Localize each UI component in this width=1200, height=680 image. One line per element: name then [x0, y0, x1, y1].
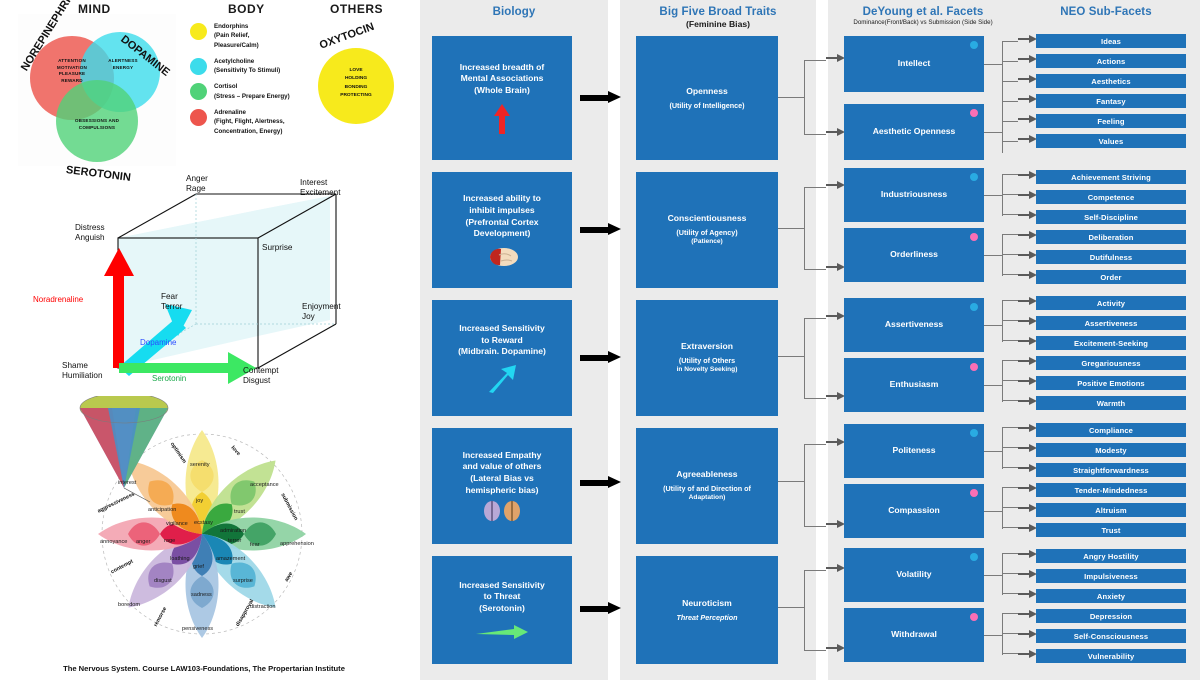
connector-line — [778, 607, 804, 608]
cube-label-contempt-disgust: ContemptDisgust — [243, 366, 279, 387]
connector-line — [1002, 633, 1018, 634]
neo-box-achievement-striving[interactable]: Achievement Striving — [1036, 170, 1186, 184]
connector-line — [804, 60, 826, 61]
venn-column-title-body: BODY — [228, 2, 265, 16]
connector-line — [1002, 527, 1018, 528]
column-title-biology: Biology — [420, 6, 608, 18]
neo-box-angry-hostility[interactable]: Angry Hostility — [1036, 549, 1186, 563]
facet-box-orderliness[interactable]: Orderliness — [844, 228, 984, 282]
connector-line — [984, 255, 1002, 256]
infographic-page: MIND BODY OTHERS ATTENTIONMOTIVATIONPLEA… — [0, 0, 1200, 680]
connector-line — [984, 635, 1002, 636]
connector-line — [804, 318, 826, 319]
wheel-word-joy: joy — [196, 498, 203, 504]
neo-box-tender-mindedness[interactable]: Tender-Mindedness — [1036, 483, 1186, 497]
facet-name: Intellect — [898, 58, 930, 70]
connector-line — [1002, 400, 1018, 401]
trait-sub2: (Patience) — [691, 238, 723, 247]
facet-name: Industriousness — [881, 189, 947, 201]
facet-box-withdrawal[interactable]: Withdrawal — [844, 608, 984, 662]
biology-box-text: Increased Empathyand value of others(Lat… — [463, 450, 542, 496]
neo-box-aesthetics[interactable]: Aesthetics — [1036, 74, 1186, 88]
connector-line — [804, 444, 826, 445]
connector-line — [1002, 254, 1018, 255]
connector-line — [1002, 613, 1018, 614]
neo-box-values[interactable]: Values — [1036, 134, 1186, 148]
column-title-deyoung: DeYoung et al. Facets — [828, 6, 1018, 18]
connector-line — [1002, 41, 1003, 85]
neo-box-compliance[interactable]: Compliance — [1036, 423, 1186, 437]
wheel-word-pensiveness: pensiveness — [182, 626, 213, 632]
connector-line — [984, 325, 1002, 326]
wheel-word-annoyance: annoyance — [100, 539, 127, 545]
facet-box-volatility[interactable]: Volatility — [844, 548, 984, 602]
trait-name: Conscientiousness — [668, 213, 747, 225]
legend-item: Acetylcholine(Sensitivity To Stimuli) — [190, 57, 318, 76]
connector-line — [804, 650, 826, 651]
wheel-word-trust: trust — [234, 509, 245, 515]
wheel-word-ecstasy: ecstasy — [194, 520, 213, 526]
neo-box-dutifulness[interactable]: Dutifulness — [1036, 250, 1186, 264]
cube-label-anger-rage: AngerRage — [186, 174, 208, 195]
oxytocin-circle: LOVEHOLDINGBONDINGPROTECTING — [318, 48, 394, 124]
connector-line — [778, 356, 804, 357]
facet-name: Compassion — [888, 505, 940, 517]
connector-line — [1002, 41, 1018, 42]
connector-line — [984, 451, 1002, 452]
cube-axis-label-dopamine: Dopamine — [140, 338, 176, 348]
connector-line — [804, 187, 826, 188]
dot-pink-icon — [970, 613, 978, 621]
legend-item: Adrenaline(Fight, Flight, Alertness,Conc… — [190, 108, 318, 136]
connector-line — [804, 60, 805, 134]
dot-pink-icon — [970, 109, 978, 117]
column-subtitle-big-five: (Feminine Bias) — [620, 19, 816, 29]
two-brains-icon — [482, 500, 522, 522]
dot-pink-icon — [970, 363, 978, 371]
connector-line — [1002, 340, 1018, 341]
connector-line — [804, 570, 805, 650]
connector-line — [1002, 121, 1018, 122]
connector-line — [804, 134, 826, 135]
connector-line — [1002, 553, 1018, 554]
neo-box-self-consciousness[interactable]: Self-Consciousness — [1036, 629, 1186, 643]
oxytocin-label: OXYTOCIN — [318, 21, 376, 52]
legend-swatch-cortisol — [190, 83, 207, 100]
connector-line — [804, 187, 805, 269]
plutchik-emotion-wheel-figure: ecstasy admiration terror amazement grie… — [78, 396, 318, 648]
facet-name: Politeness — [893, 445, 936, 457]
neurotransmitter-venn-figure: MIND BODY OTHERS ATTENTIONMOTIVATIONPLEA… — [0, 0, 408, 168]
neurotransmitter-legend: Endorphins(Pain Relief,Pleasure/Calm) Ac… — [190, 22, 318, 143]
wheel-word-apprehension: apprehension — [280, 541, 314, 547]
trait-name: Openness — [686, 86, 728, 98]
connector-line — [984, 385, 1002, 386]
wheel-word-acceptance: acceptance — [250, 482, 279, 488]
neo-box-trust[interactable]: Trust — [1036, 523, 1186, 537]
column-header-big-five: Big Five Broad Traits (Feminine Bias) — [620, 6, 816, 29]
trait-sub: (Utility of Intelligence) — [669, 101, 744, 110]
column-header-neo: NEO Sub-Facets — [1012, 6, 1200, 18]
venn-text-serotonin: OBSESSIONS ANDCOMPULSIONS — [58, 118, 136, 131]
dot-blue-icon — [970, 429, 978, 437]
connector-line — [1002, 487, 1018, 488]
red-up-arrow-icon — [493, 104, 511, 134]
legend-swatch-endorphins — [190, 23, 207, 40]
connector-line — [984, 64, 1002, 65]
column-title-neo: NEO Sub-Facets — [1012, 6, 1200, 18]
connector-line — [984, 575, 1002, 576]
cube-label-shame-humiliation: ShameHumiliation — [62, 361, 103, 382]
column-title-big-five: Big Five Broad Traits — [620, 6, 816, 18]
facet-name: Orderliness — [890, 249, 938, 261]
cube-label-distress-anguish: DistressAnguish — [75, 223, 105, 244]
connector-line — [804, 526, 826, 527]
facet-box-aesthetic-openness[interactable]: Aesthetic Openness — [844, 104, 984, 160]
dot-pink-icon — [970, 489, 978, 497]
dot-pink-icon — [970, 233, 978, 241]
trait-name: Neuroticism — [682, 598, 732, 610]
venn-text-dopamine: ALERTNESSENERGY — [100, 58, 146, 71]
trait-sub2: in Novelty Seeking) — [677, 366, 738, 375]
facet-name: Withdrawal — [891, 629, 937, 641]
facet-box-assertiveness[interactable]: Assertiveness — [844, 298, 984, 352]
connector-line — [1002, 300, 1018, 301]
dot-blue-icon — [970, 173, 978, 181]
neo-box-impulsiveness[interactable]: Impulsiveness — [1036, 569, 1186, 583]
wheel-word-sadness: sadness — [191, 592, 212, 598]
cube-label-surprise: Surprise — [262, 243, 293, 253]
connector-line — [778, 97, 804, 98]
biology-box-text: Increased ability toinhibit impulses(Pre… — [463, 193, 541, 239]
wheel-word-rage: rage — [164, 538, 175, 544]
facet-box-politeness[interactable]: Politeness — [844, 424, 984, 478]
connector-line — [1002, 61, 1018, 62]
wheel-word-anticipation: anticipation — [148, 507, 176, 513]
facet-box-compassion[interactable]: Compassion — [844, 484, 984, 538]
neo-box-deliberation[interactable]: Deliberation — [1036, 230, 1186, 244]
connector-line — [804, 570, 826, 571]
connector-line — [1002, 573, 1018, 574]
connector-line — [778, 228, 804, 229]
column-header-biology: Biology — [420, 6, 608, 18]
connector-line — [1002, 427, 1018, 428]
connector-line — [1002, 81, 1018, 82]
facet-name: Volatility — [896, 569, 931, 581]
trait-sub: (Utility of Agency) — [676, 228, 737, 237]
connector-line — [778, 481, 804, 482]
connector-line — [1002, 507, 1018, 508]
connector-line — [1002, 653, 1018, 654]
biology-box-text: Increased breadth ofMental Associations(… — [460, 62, 545, 97]
left-illustration-panel: MIND BODY OTHERS ATTENTIONMOTIVATIONPLEA… — [0, 0, 408, 680]
connector-line — [1002, 194, 1018, 195]
connector-line — [1002, 447, 1018, 448]
trait-sub: Threat Perception — [676, 613, 737, 622]
dot-blue-icon — [970, 303, 978, 311]
wheel-word-interest: interest — [118, 480, 136, 486]
trait-sub2: Adaptation) — [689, 494, 726, 503]
neo-box-modesty[interactable]: Modesty — [1036, 443, 1186, 457]
wheel-word-amazement: amazement — [216, 556, 245, 562]
dot-blue-icon — [970, 553, 978, 561]
neo-box-excitement-seeking[interactable]: Excitement-Seeking — [1036, 336, 1186, 350]
biology-box-openness[interactable]: Increased breadth ofMental Associations(… — [432, 36, 572, 160]
neo-box-gregariousness[interactable]: Gregariousness — [1036, 356, 1186, 370]
green-right-arrow-icon — [476, 624, 528, 640]
connector-line — [1002, 174, 1018, 175]
neo-box-ideas[interactable]: Ideas — [1036, 34, 1186, 48]
trait-box-agreeableness[interactable]: Agreeableness (Utility of and Direction … — [636, 428, 778, 544]
neo-box-actions[interactable]: Actions — [1036, 54, 1186, 68]
connector-line — [1002, 274, 1018, 275]
connector-line — [984, 132, 1002, 133]
legend-swatch-adrenaline — [190, 109, 207, 126]
connector-line — [1002, 593, 1018, 594]
neo-box-vulnerability[interactable]: Vulnerability — [1036, 649, 1186, 663]
wheel-word-admiration: admiration — [220, 528, 246, 534]
neo-box-positive-emotions[interactable]: Positive Emotions — [1036, 376, 1186, 390]
cube-label-fear-terror: FearTerror — [161, 292, 182, 313]
legend-swatch-acetylcholine — [190, 58, 207, 75]
connector-line — [1002, 81, 1003, 153]
biology-box-agreeableness[interactable]: Increased Empathyand value of others(Lat… — [432, 428, 572, 544]
wheel-word-distraction: distraction — [250, 604, 276, 610]
trait-sub: (Utility of and Direction of — [663, 484, 751, 493]
connector-line — [984, 511, 1002, 512]
connector-line — [1002, 141, 1018, 142]
wheel-word-serenity: serenity — [190, 462, 210, 468]
connector-line — [1002, 101, 1018, 102]
venn-diagram: ATTENTIONMOTIVATIONPLEASUREREWARD ALERTN… — [18, 14, 176, 166]
biology-box-extraversion[interactable]: Increased Sensitivityto Reward(Midbrain.… — [432, 300, 572, 416]
wheel-word-disgust: disgust — [154, 578, 172, 584]
connector-line — [804, 318, 805, 398]
personality-flowchart-panel: Biology Big Five Broad Traits (Feminine … — [408, 0, 1200, 680]
connector-line — [1002, 380, 1018, 381]
neo-box-assertiveness[interactable]: Assertiveness — [1036, 316, 1186, 330]
neo-box-order[interactable]: Order — [1036, 270, 1186, 284]
facet-name: Enthusiasm — [890, 379, 939, 391]
trait-name: Extraversion — [681, 341, 733, 353]
neo-box-straightforwardness[interactable]: Straightforwardness — [1036, 463, 1186, 477]
wheel-word-grief: grief — [193, 564, 204, 570]
venn-column-title-others: OTHERS — [330, 2, 383, 16]
column-header-deyoung: DeYoung et al. Facets Dominance(Front/Ba… — [828, 6, 1018, 26]
wheel-word-boredom: boredom — [118, 602, 140, 608]
legend-item: Cortisol(Stress – Prepare Energy) — [190, 82, 318, 101]
neo-box-self-discipline[interactable]: Self-Discipline — [1036, 210, 1186, 224]
cyan-diagonal-arrow-icon — [485, 363, 519, 393]
connector-line — [1002, 214, 1018, 215]
figure-caption: The Nervous System. Course LAW103-Founda… — [0, 664, 408, 673]
connector-line — [1002, 360, 1018, 361]
legend-label-endorphins: Endorphins(Pain Relief,Pleasure/Calm) — [214, 22, 259, 50]
biology-box-text: Increased Sensitivityto Reward(Midbrain.… — [458, 323, 546, 358]
connector-line — [1002, 234, 1018, 235]
connector-line — [984, 195, 1002, 196]
brain-sagittal-icon — [485, 245, 519, 267]
cube-label-enjoyment-joy: EnjoymentJoy — [302, 302, 341, 323]
trait-box-openness[interactable]: Openness (Utility of Intelligence) — [636, 36, 778, 160]
wheel-word-loathing: loathing — [170, 556, 190, 562]
trait-box-conscientiousness[interactable]: Conscientiousness (Utility of Agency) (P… — [636, 172, 778, 288]
legend-item: Endorphins(Pain Relief,Pleasure/Calm) — [190, 22, 318, 50]
column-note-deyoung: Dominance(Front/Back) vs Submission (Sid… — [828, 19, 1018, 26]
biology-box-text: Increased Sensitivityto Threat(Serotonin… — [459, 580, 545, 615]
neo-box-altruism[interactable]: Altruism — [1036, 503, 1186, 517]
legend-label-adrenaline: Adrenaline(Fight, Flight, Alertness,Conc… — [214, 108, 285, 136]
neo-box-fantasy[interactable]: Fantasy — [1036, 94, 1186, 108]
neo-box-activity[interactable]: Activity — [1036, 296, 1186, 310]
venn-text-norepinephrine: ATTENTIONMOTIVATIONPLEASUREREWARD — [40, 58, 104, 85]
biology-box-neuroticism[interactable]: Increased Sensitivityto Threat(Serotonin… — [432, 556, 572, 664]
wheel-word-anger: anger — [136, 539, 150, 545]
connector-line — [804, 269, 826, 270]
biology-box-conscientiousness[interactable]: Increased ability toinhibit impulses(Pre… — [432, 172, 572, 288]
trait-box-extraversion[interactable]: Extraversion (Utility of Others in Novel… — [636, 300, 778, 416]
connector-line — [1002, 467, 1018, 468]
trait-sub: (Utility of Others — [679, 356, 735, 365]
facet-name: Aesthetic Openness — [873, 126, 956, 138]
cube-label-interest-excitement: InterestExcitement — [300, 178, 341, 199]
wheel-word-fear: fear — [250, 542, 260, 548]
cube-axis-label-serotonin: Serotonin — [152, 374, 186, 384]
connector-line — [804, 444, 805, 526]
neo-box-warmth[interactable]: Warmth — [1036, 396, 1186, 410]
neo-box-competence[interactable]: Competence — [1036, 190, 1186, 204]
connector-line — [804, 398, 826, 399]
neo-box-anxiety[interactable]: Anxiety — [1036, 589, 1186, 603]
wheel-word-surprise: surprise — [233, 578, 253, 584]
neo-box-depression[interactable]: Depression — [1036, 609, 1186, 623]
trait-name: Agreeableness — [676, 469, 737, 481]
facet-box-intellect[interactable]: Intellect — [844, 36, 984, 92]
cube-axis-label-noradrenaline: Noradrenaline — [33, 295, 83, 305]
dot-blue-icon — [970, 41, 978, 49]
wheel-word-terror: terror — [228, 538, 241, 544]
trait-box-neuroticism[interactable]: Neuroticism Threat Perception — [636, 556, 778, 664]
wheel-word-vigilance: vigilance — [166, 521, 188, 527]
neo-box-feeling[interactable]: Feeling — [1036, 114, 1186, 128]
facet-name: Assertiveness — [885, 319, 943, 331]
legend-label-acetylcholine: Acetylcholine(Sensitivity To Stimuli) — [214, 57, 280, 76]
facet-box-industriousness[interactable]: Industriousness — [844, 168, 984, 222]
emotion-cube-figure: AngerRage InterestExcitement DistressAng… — [0, 168, 408, 398]
oxytocin-text: LOVEHOLDINGBONDINGPROTECTING — [318, 67, 394, 101]
legend-label-cortisol: Cortisol(Stress – Prepare Energy) — [214, 82, 290, 101]
connector-line — [1002, 320, 1018, 321]
facet-box-enthusiasm[interactable]: Enthusiasm — [844, 358, 984, 412]
